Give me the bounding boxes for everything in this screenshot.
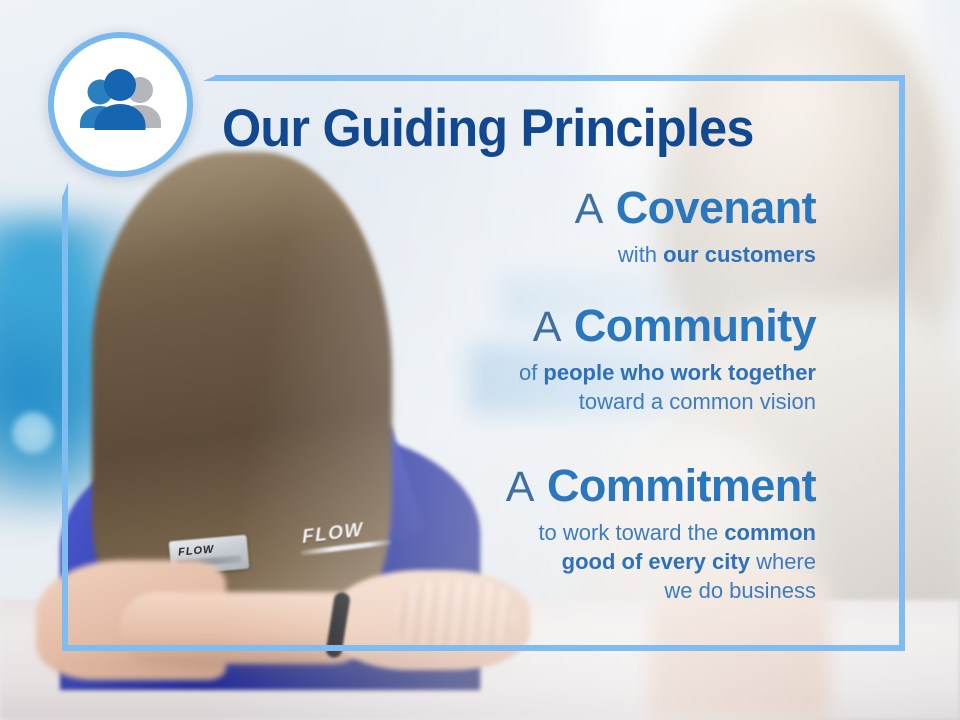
principle-community-article: A — [533, 303, 562, 351]
principle-covenant-word: Covenant — [616, 182, 816, 233]
frame-border-left — [62, 196, 68, 651]
principle-covenant-subtext: with our customers — [158, 240, 816, 269]
commitment-sub-bold-1: common — [724, 520, 816, 545]
principle-community-subtext: of people who work together toward a com… — [158, 358, 816, 416]
principle-covenant-article: A — [575, 185, 604, 233]
commitment-sub-bold-2: good of every city — [562, 549, 750, 574]
group-of-people-icon — [73, 69, 169, 141]
guiding-principles-badge — [48, 32, 193, 177]
content-block: Our Guiding Principles A Covenant with o… — [200, 78, 900, 638]
principle-commitment: A Commitment to work toward the common g… — [158, 460, 858, 605]
principle-commitment-subtext: to work toward the common good of every … — [158, 518, 816, 605]
principle-commitment-article: A — [506, 463, 535, 511]
commitment-sub-line3: we do business — [664, 578, 816, 603]
principle-community-heading: A Community — [158, 300, 816, 353]
associate-table-shadow — [60, 648, 530, 678]
page-title: Our Guiding Principles — [222, 100, 849, 158]
principle-covenant: A Covenant with our customers — [158, 182, 858, 269]
covenant-sub-prefix: with — [618, 242, 663, 267]
community-sub-prefix: of — [519, 360, 543, 385]
principle-commitment-word: Commitment — [547, 460, 816, 511]
blurred-logo-mark — [10, 410, 56, 456]
frame-border-bottom — [62, 645, 905, 651]
covenant-sub-bold: our customers — [663, 242, 816, 267]
principle-community: A Community of people who work together … — [158, 300, 858, 416]
guiding-principles-graphic: FLOW FLOW — [0, 0, 960, 720]
principle-covenant-heading: A Covenant — [158, 182, 816, 235]
commitment-sub-suffix: where — [750, 549, 816, 574]
community-sub-line2: toward a common vision — [579, 389, 816, 414]
commitment-sub-prefix: to work toward the — [538, 520, 724, 545]
community-sub-bold: people who work together — [543, 360, 816, 385]
principle-community-word: Community — [574, 300, 816, 351]
principle-commitment-heading: A Commitment — [158, 460, 816, 513]
